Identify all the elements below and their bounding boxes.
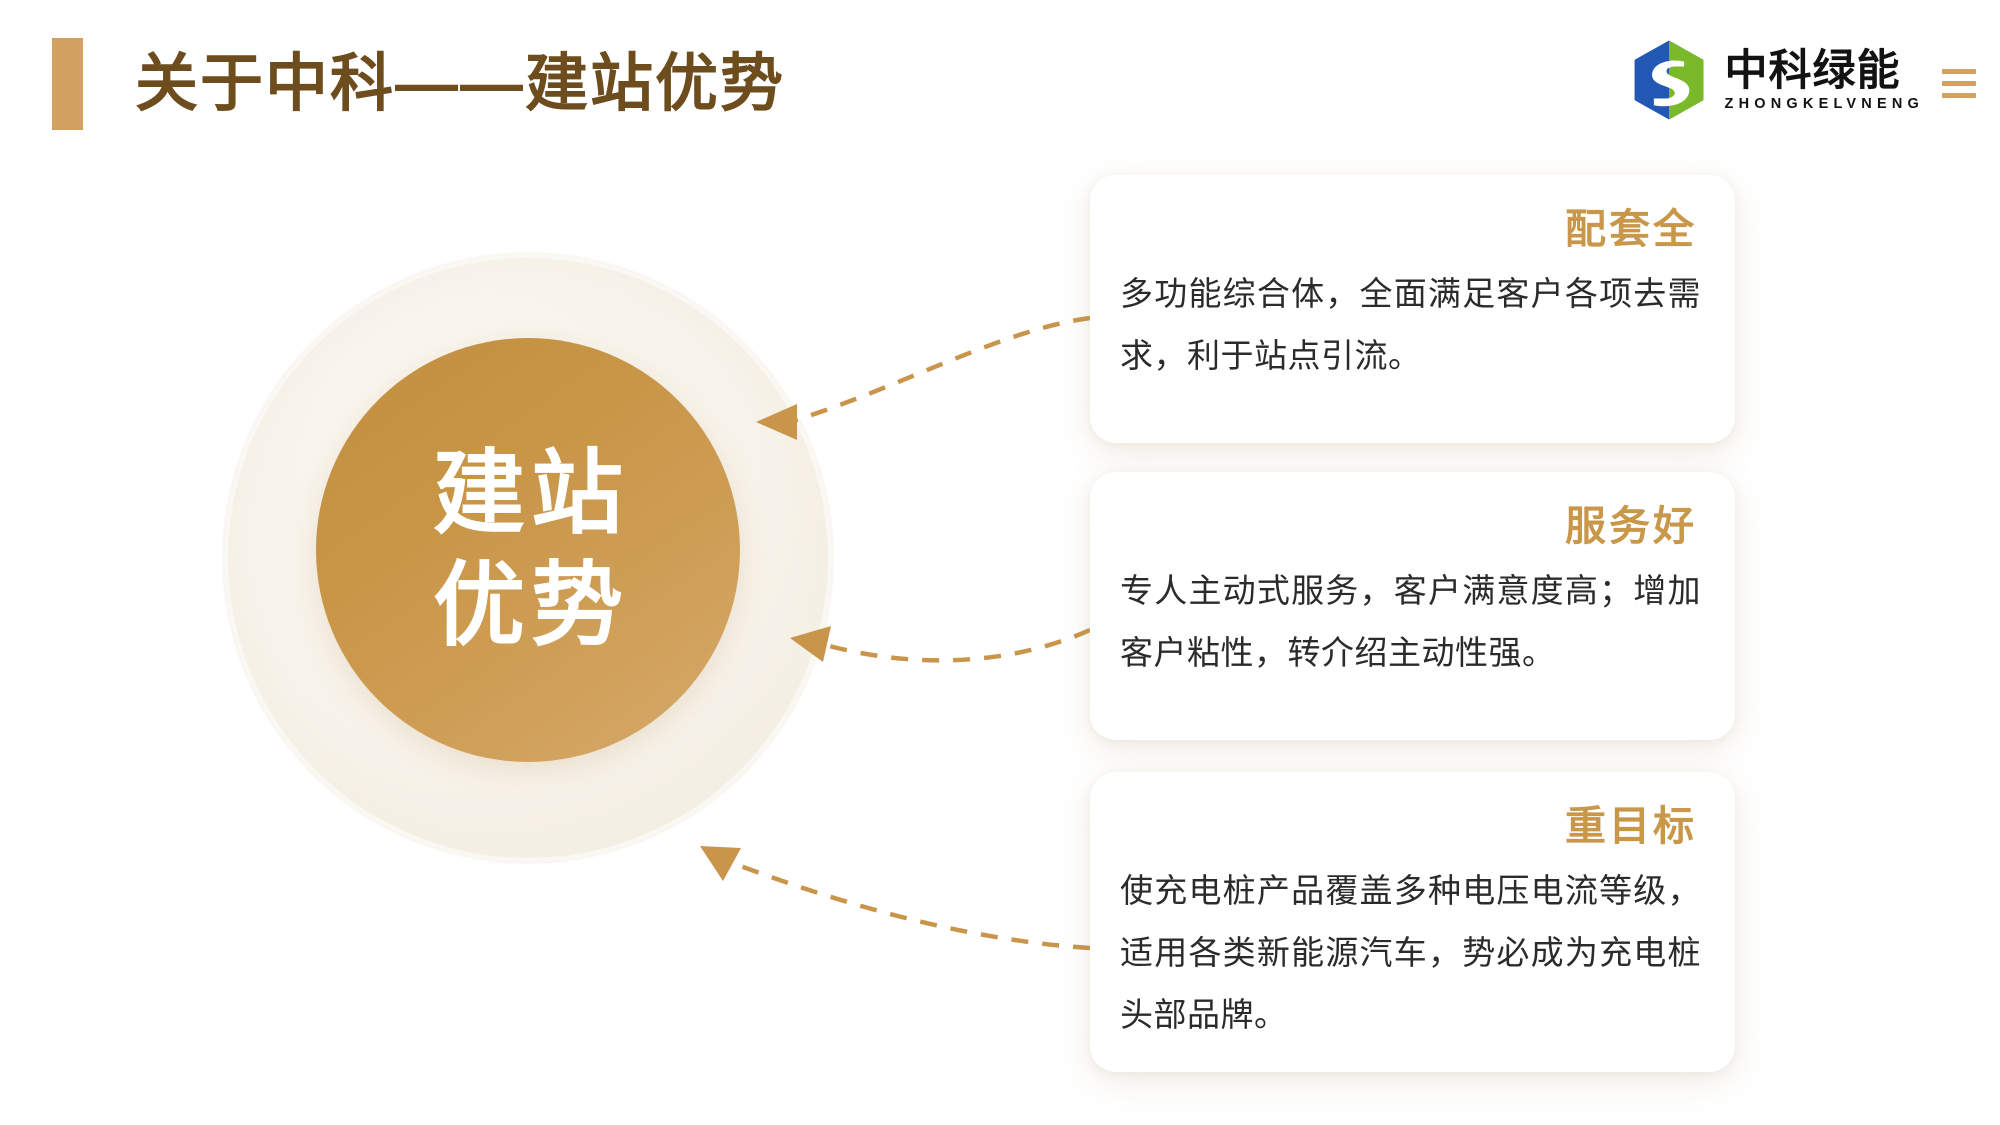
menu-bar-1 bbox=[1942, 69, 1976, 74]
menu-bar-2 bbox=[1942, 81, 1976, 86]
logo-wordmark: 中科绿能 ZHONGKELVNENG bbox=[1725, 48, 1924, 112]
logo-name-en: ZHONGKELVNENG bbox=[1725, 96, 1924, 112]
logo-name-cn: 中科绿能 bbox=[1725, 48, 1901, 94]
menu-bar-3 bbox=[1942, 93, 1976, 98]
advantage-card[interactable]: 配套全 多功能综合体，全面满足客户各项去需求，利于站点引流。 bbox=[1090, 175, 1735, 443]
card-title: 重目标 bbox=[1120, 798, 1697, 854]
slide-canvas: 关于中科——建站优势 中科绿能 ZHONGKELVNENG 建站 优势 bbox=[0, 0, 2000, 1125]
page-title: 关于中科——建站优势 bbox=[135, 42, 785, 126]
hamburger-menu-icon[interactable] bbox=[1942, 69, 1976, 98]
card-body: 多功能综合体，全面满足客户各项去需求，利于站点引流。 bbox=[1120, 263, 1701, 387]
advantage-card[interactable]: 服务好 专人主动式服务，客户满意度高；增加客户粘性，转介绍主动性强。 bbox=[1090, 472, 1735, 740]
connector-path-1 bbox=[790, 318, 1090, 422]
hub-text-line-1: 建站 bbox=[427, 438, 629, 550]
card-title: 配套全 bbox=[1120, 201, 1697, 257]
hub-core-circle: 建站 优势 bbox=[316, 338, 740, 762]
advantage-card-list: 配套全 多功能综合体，全面满足客户各项去需求，利于站点引流。 服务好 专人主动式… bbox=[1090, 0, 1740, 1125]
card-title: 服务好 bbox=[1120, 498, 1697, 554]
title-accent-bar bbox=[52, 38, 83, 130]
hub-text-line-2: 优势 bbox=[427, 550, 629, 662]
central-hub-circle: 建站 优势 bbox=[228, 258, 828, 858]
connector-path-3 bbox=[730, 862, 1090, 948]
card-body: 专人主动式服务，客户满意度高；增加客户粘性，转介绍主动性强。 bbox=[1120, 560, 1701, 684]
connector-path-2 bbox=[822, 630, 1090, 660]
card-body: 使充电桩产品覆盖多种电压电流等级，适用各类新能源汽车，势必成为充电桩头部品牌。 bbox=[1120, 860, 1701, 1046]
advantage-card[interactable]: 重目标 使充电桩产品覆盖多种电压电流等级，适用各类新能源汽车，势必成为充电桩头部… bbox=[1090, 772, 1735, 1072]
